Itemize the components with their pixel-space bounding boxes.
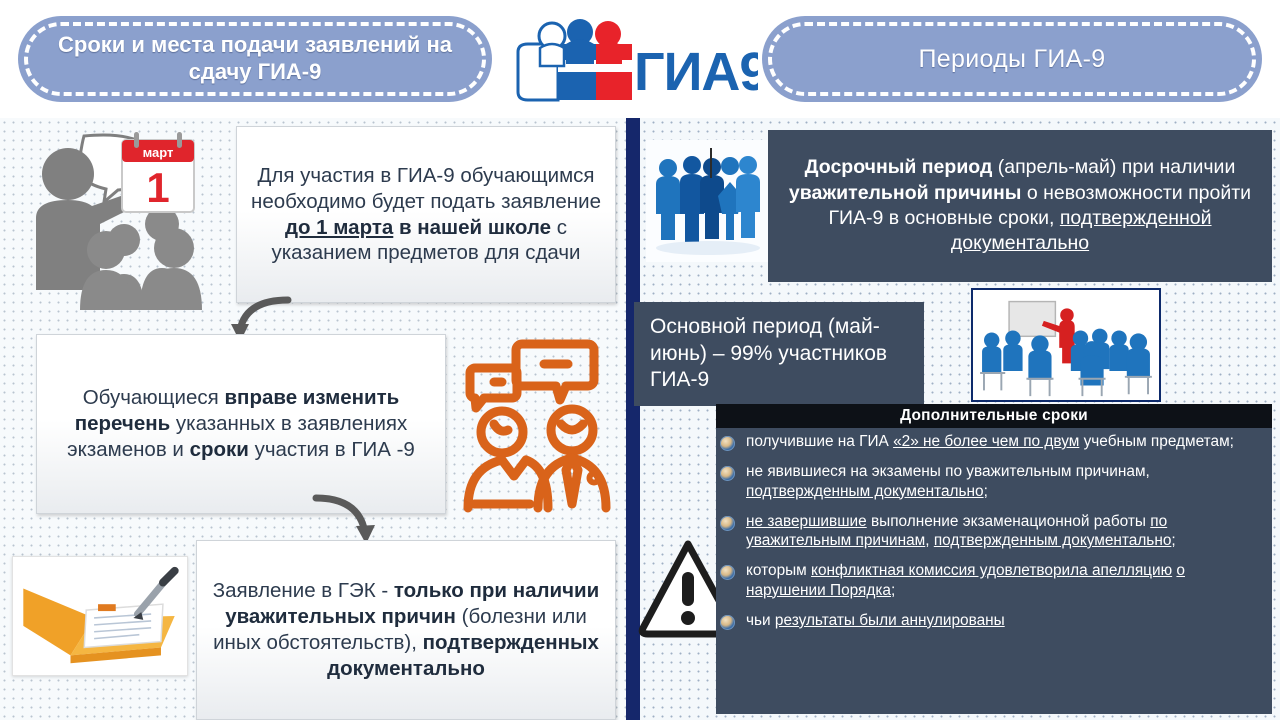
left-header-title: Сроки и места подачи заявлений на сдачу … [18, 32, 492, 86]
application-folder-pen-icon [12, 556, 188, 676]
list-item: не завершившие выполнение экзаменационно… [716, 512, 1272, 551]
calendar-day-label: 1 [146, 164, 169, 211]
gek-application-card: Заявление в ГЭК - только при наличии ува… [196, 540, 616, 720]
bullet-dot-icon [720, 516, 735, 531]
change-subject-list-card: Обучающиеся вправе изменить перечень ука… [36, 334, 446, 514]
application-deadline-text: Для участия в ГИА-9 обучающимся необходи… [237, 157, 615, 272]
early-period-text: Досрочный период (апрель-май) при наличи… [768, 151, 1272, 260]
gia9-logo-graphic: ГИА9 [500, 14, 758, 114]
additional-terms-title: Дополнительные сроки [716, 404, 1272, 428]
gek-application-text: Заявление в ГЭК - только при наличии ува… [197, 572, 615, 687]
list-item: чьи результаты были аннулированы [716, 611, 1272, 630]
bullet-dot-icon [720, 565, 735, 580]
list-item-text: чьи результаты были аннулированы [746, 612, 1005, 629]
classroom-lecture-icon [971, 288, 1161, 402]
people-group-icon [646, 140, 770, 262]
list-item-text: получившие на ГИА «2» не более чем по дв… [746, 433, 1234, 450]
application-deadline-card: Для участия в ГИА-9 обучающимся необходи… [236, 126, 616, 303]
list-item-text: не завершившие выполнение экзаменационно… [746, 513, 1176, 549]
list-item: не явившиеся на экзамены по уважительным… [716, 462, 1272, 501]
right-header-banner: Периоды ГИА-9 [762, 16, 1262, 102]
list-item-text: которым конфликтная комиссия удовлетвори… [746, 562, 1185, 598]
left-header-banner: Сроки и места подачи заявлений на сдачу … [18, 16, 492, 102]
additional-terms-list: получившие на ГИА «2» не более чем по дв… [716, 432, 1272, 641]
list-item: получившие на ГИА «2» не более чем по дв… [716, 432, 1272, 451]
bullet-dot-icon [720, 436, 735, 451]
calendar-month-label: март [143, 145, 174, 160]
bullet-dot-icon [720, 466, 735, 481]
svg-text:ГИА9: ГИА9 [634, 42, 758, 102]
main-period-box: Основной период (май-июнь) – 99% участни… [634, 302, 924, 406]
list-item-text: не явившиеся на экзамены по уважительным… [746, 463, 1150, 499]
list-item: которым конфликтная комиссия удовлетвори… [716, 561, 1272, 600]
main-period-text: Основной период (май-июнь) – 99% участни… [634, 312, 924, 397]
arrow-card2-to-card3 [312, 492, 384, 546]
change-subject-list-text: Обучающиеся вправе изменить перечень ука… [37, 379, 445, 468]
infographic-canvas: Сроки и места подачи заявлений на сдачу … [0, 0, 1280, 720]
early-period-box: Досрочный период (апрель-май) при наличи… [768, 130, 1272, 282]
bullet-dot-icon [720, 615, 735, 630]
right-header-title: Периоды ГИА-9 [879, 44, 1146, 75]
gia9-logo: ГИА9 [500, 14, 758, 114]
teacher-and-students-icon: март 1 [14, 128, 234, 310]
two-people-speech-bubble-icon [448, 336, 624, 516]
